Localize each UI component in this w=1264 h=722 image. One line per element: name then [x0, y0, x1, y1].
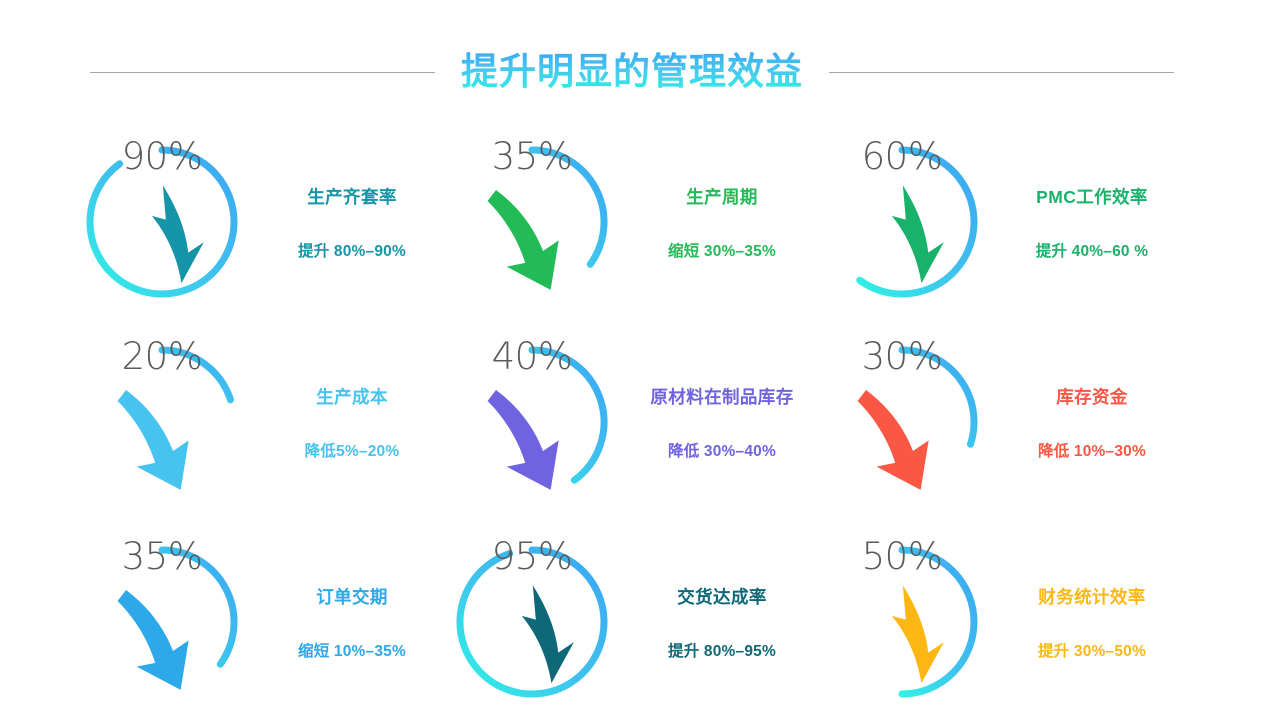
metric-card: 95% 交货达成率 提升 80%–95% — [448, 522, 818, 722]
metric-subtitle: 降低5%–20% — [305, 439, 400, 461]
metric-card: 90% 生产齐套率 提升 80%–90% — [78, 122, 448, 322]
metric-text: 库存资金 降低 10%–30% — [996, 384, 1188, 461]
arrow-down-icon — [78, 379, 246, 506]
progress-ring: 35% — [448, 138, 616, 306]
metric-subtitle: 缩短 10%–35% — [298, 639, 406, 661]
metric-title: 生产周期 — [686, 184, 758, 209]
gauge-center: 20% — [78, 338, 246, 506]
gauge-center: 90% — [78, 138, 246, 306]
metric-subtitle: 降低 30%–40% — [668, 439, 776, 461]
gauge-center: 50% — [818, 538, 986, 706]
arrow-up-icon — [78, 179, 246, 306]
metric-title: 订单交期 — [316, 584, 388, 609]
metric-text: 交货达成率 提升 80%–95% — [626, 584, 818, 661]
gauge-center: 40% — [448, 338, 616, 506]
metric-card: 20% 生产成本 降低5%–20% — [78, 322, 448, 522]
progress-ring: 60% — [818, 138, 986, 306]
metric-card: 60% PMC工作效率 提升 40%–60 % — [818, 122, 1188, 322]
arrow-up-icon — [818, 579, 986, 706]
metric-text: 订单交期 缩短 10%–35% — [256, 584, 448, 661]
percent-value: 40% — [492, 338, 573, 375]
progress-ring: 90% — [78, 138, 246, 306]
percent-value: 35% — [492, 138, 573, 175]
arrow-down-icon — [818, 379, 986, 506]
metric-card: 30% 库存资金 降低 10%–30% — [818, 322, 1188, 522]
percent-value: 30% — [862, 338, 943, 375]
progress-ring: 20% — [78, 338, 246, 506]
metric-subtitle: 降低 10%–30% — [1038, 439, 1146, 461]
gauge-center: 35% — [78, 538, 246, 706]
metric-title: 库存资金 — [1056, 384, 1128, 409]
progress-ring: 35% — [78, 538, 246, 706]
page-title: 提升明显的管理效益 — [459, 49, 805, 95]
metric-card: 50% 财务统计效率 提升 30%–50% — [818, 522, 1188, 722]
gauge-center: 95% — [448, 538, 616, 706]
progress-ring: 95% — [448, 538, 616, 706]
gauge-center: 35% — [448, 138, 616, 306]
metric-title: PMC工作效率 — [1036, 184, 1148, 209]
metric-text: 财务统计效率 提升 30%–50% — [996, 584, 1188, 661]
percent-value: 95% — [492, 538, 573, 575]
metric-title: 生产齐套率 — [307, 184, 397, 209]
metric-text: 原材料在制品库存 降低 30%–40% — [626, 384, 818, 461]
arrow-up-icon — [448, 579, 616, 706]
header-divider-left — [90, 72, 435, 73]
percent-value: 20% — [122, 338, 203, 375]
percent-value: 50% — [862, 538, 943, 575]
arrow-down-icon — [448, 379, 616, 506]
metric-title: 原材料在制品库存 — [650, 384, 793, 409]
metric-subtitle: 缩短 30%–35% — [668, 239, 776, 261]
arrow-up-icon — [818, 179, 986, 306]
percent-value: 60% — [862, 138, 943, 175]
metric-text: PMC工作效率 提升 40%–60 % — [996, 184, 1188, 261]
metrics-grid: 90% 生产齐套率 提升 80%–90% — [78, 122, 1188, 702]
metric-card: 35% 生产周期 缩短 30%–35% — [448, 122, 818, 322]
progress-ring: 40% — [448, 338, 616, 506]
metric-subtitle: 提升 40%–60 % — [1036, 239, 1148, 261]
percent-value: 90% — [122, 138, 203, 175]
arrow-down-icon — [448, 179, 616, 306]
metric-subtitle: 提升 30%–50% — [1038, 639, 1146, 661]
gauge-center: 60% — [818, 138, 986, 306]
progress-ring: 50% — [818, 538, 986, 706]
metric-text: 生产周期 缩短 30%–35% — [626, 184, 818, 261]
metric-subtitle: 提升 80%–90% — [298, 239, 406, 261]
page-header: 提升明显的管理效益 — [0, 44, 1264, 100]
metric-subtitle: 提升 80%–95% — [668, 639, 776, 661]
arrow-down-icon — [78, 579, 246, 706]
metric-title: 交货达成率 — [677, 584, 767, 609]
header-divider-right — [829, 72, 1174, 73]
metric-text: 生产齐套率 提升 80%–90% — [256, 184, 448, 261]
metric-text: 生产成本 降低5%–20% — [256, 384, 448, 461]
metric-card: 35% 订单交期 缩短 10%–35% — [78, 522, 448, 722]
metric-title: 生产成本 — [316, 384, 388, 409]
metric-title: 财务统计效率 — [1038, 584, 1145, 609]
percent-value: 35% — [122, 538, 203, 575]
progress-ring: 30% — [818, 338, 986, 506]
gauge-center: 30% — [818, 338, 986, 506]
metric-card: 40% 原材料在制品库存 降低 30%–40% — [448, 322, 818, 522]
